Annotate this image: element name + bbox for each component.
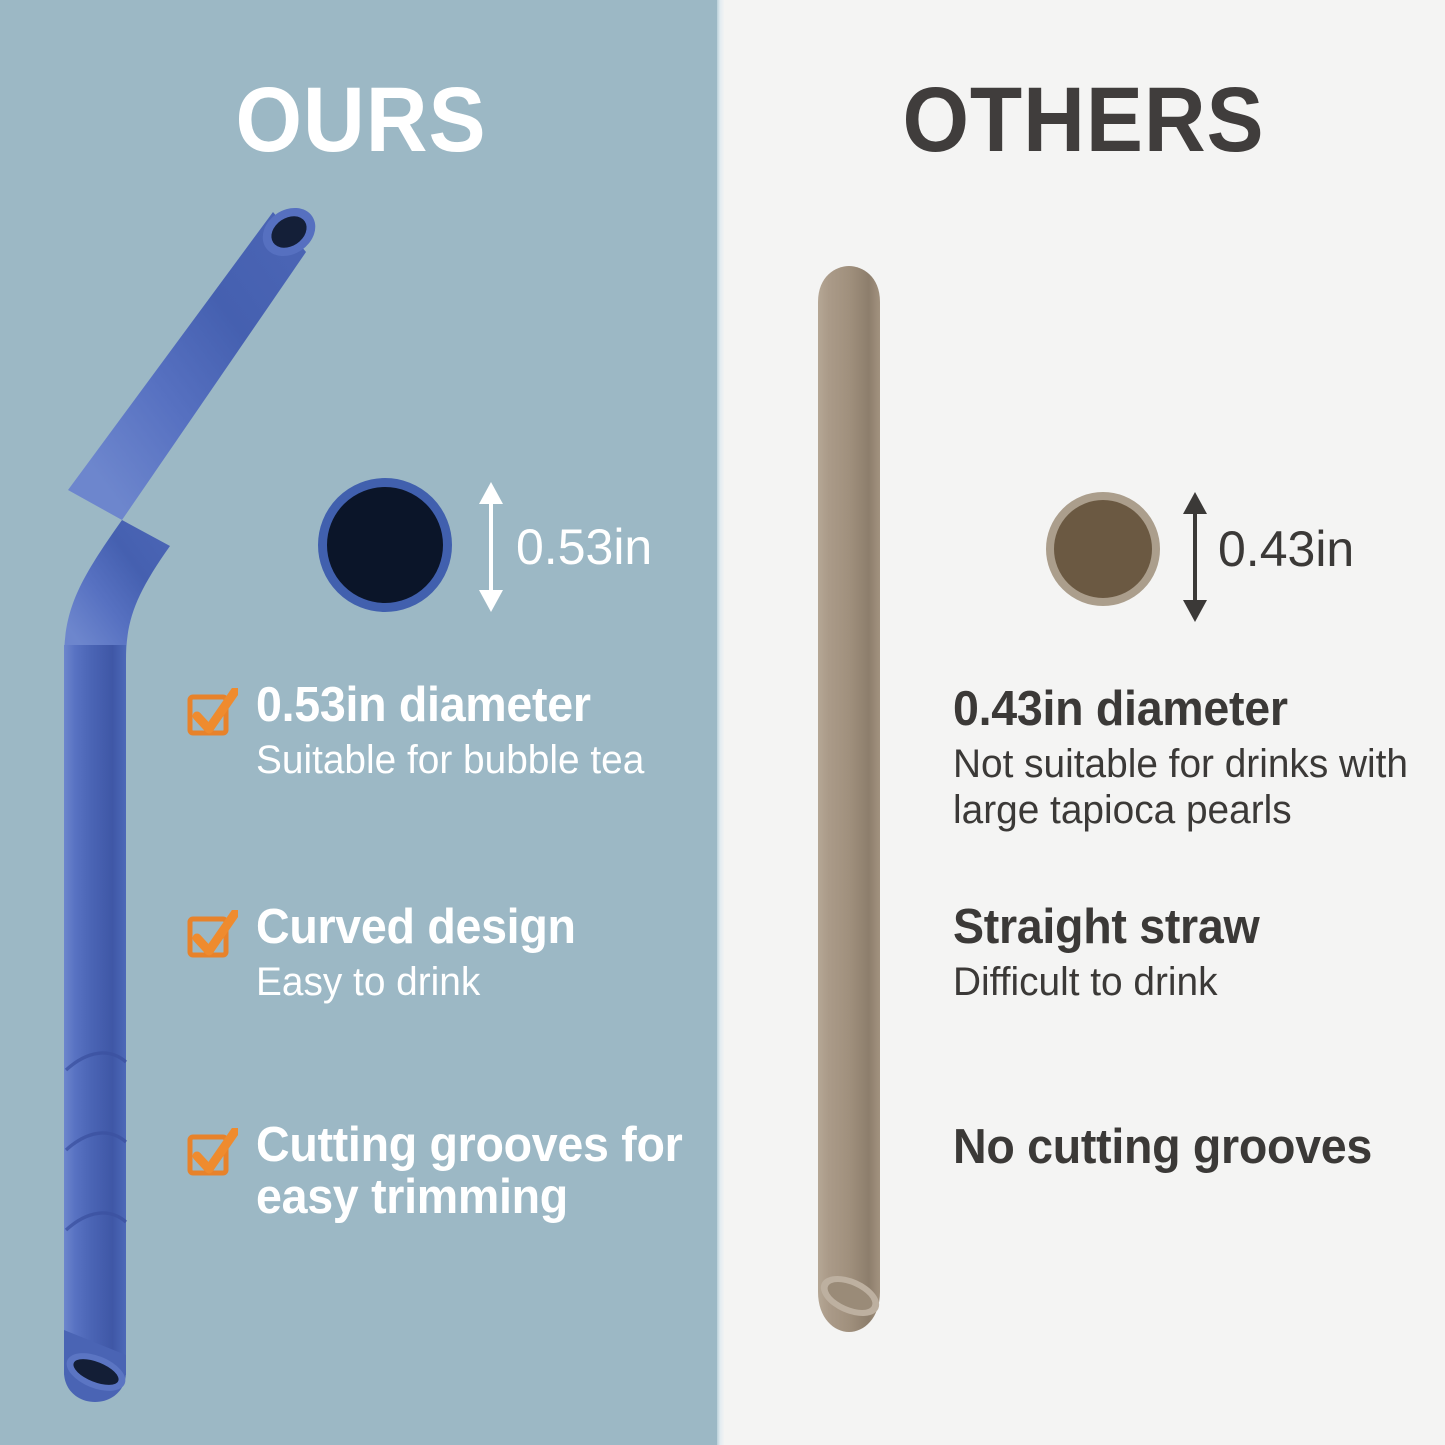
feature-item: 0.53in diameter Suitable for bubble tea bbox=[186, 680, 656, 784]
feature-item: Curved design Easy to drink bbox=[186, 902, 592, 1006]
feature-title: No cutting grooves bbox=[953, 1122, 1372, 1174]
feature-item: No cutting grooves bbox=[953, 1122, 1394, 1174]
vertical-double-arrow-icon bbox=[478, 482, 504, 612]
orange-checkmark-icon bbox=[186, 688, 238, 740]
feature-subtitle: Difficult to drink bbox=[953, 960, 1266, 1006]
others-heading: OTHERS bbox=[747, 74, 1419, 166]
feature-title: Cutting grooves for easy trimming bbox=[256, 1120, 684, 1224]
feature-item: Cutting grooves for easy trimming bbox=[186, 1120, 706, 1224]
vertical-double-arrow-icon bbox=[1182, 492, 1208, 622]
feature-subtitle: Suitable for bubble tea bbox=[256, 738, 644, 784]
bent-blue-straw-icon bbox=[30, 190, 360, 1430]
straw-cross-section-circle-icon bbox=[1046, 492, 1160, 606]
ours-diameter-label: 0.53in bbox=[516, 522, 652, 572]
ours-heading: OURS bbox=[25, 74, 696, 166]
comparison-infographic: OURS bbox=[0, 0, 1445, 1445]
feature-title: Straight straw bbox=[953, 902, 1259, 954]
orange-checkmark-icon bbox=[186, 910, 238, 962]
feature-item: Straight straw Difficult to drink bbox=[953, 902, 1276, 1006]
others-diameter-label: 0.43in bbox=[1218, 524, 1354, 574]
feature-subtitle: Not suitable for drinks with large tapio… bbox=[953, 742, 1409, 833]
feature-title: 0.43in diameter bbox=[953, 684, 1400, 736]
feature-subtitle: Easy to drink bbox=[256, 960, 582, 1006]
feature-title: Curved design bbox=[256, 902, 576, 954]
feature-item: 0.43in diameter Not suitable for drinks … bbox=[953, 684, 1423, 833]
panel-divider bbox=[717, 0, 724, 1445]
ours-panel: OURS bbox=[0, 0, 722, 1445]
orange-checkmark-icon bbox=[186, 1128, 238, 1180]
feature-title: 0.53in diameter bbox=[256, 680, 636, 732]
straw-cross-section-circle-icon bbox=[318, 478, 452, 612]
